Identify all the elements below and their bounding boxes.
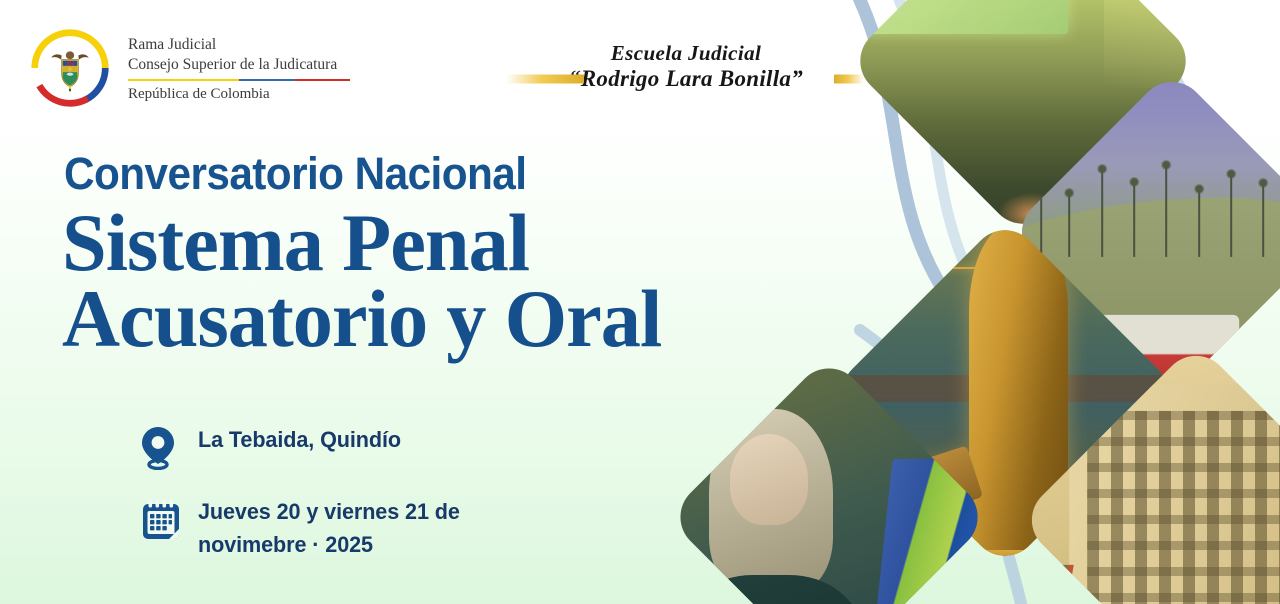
tricolor-divider [128,79,350,82]
detail-location: La Tebaida, Quindío [140,424,471,470]
detail-date: Jueves 20 y viernes 21 de novimebre · 20… [140,496,471,561]
location-text: La Tebaida, Quindío [198,424,401,457]
location-pin-icon [140,424,198,470]
gold-bar-left [506,75,584,84]
presentation-screen [861,0,1068,34]
title-line-1: Sistema Penal [62,205,661,281]
building-windows [1087,411,1280,604]
rama-judicial-logo: Rama Judicial Consejo Superior de la Jud… [28,26,350,110]
page-title: Sistema Penal Acusatorio y Oral [62,205,674,358]
date-line-2: novimebre · 2025 [198,532,373,557]
title-line-2: Acusatorio y Oral [62,281,661,357]
light-beam [1104,0,1200,88]
judge-robe [680,575,862,604]
building-flags [1018,565,1074,604]
logo-line-consejo-superior: Consejo Superior de la Judicatura [128,55,350,75]
escuela-line-1: Escuela Judicial [496,40,876,66]
date-line-1: Jueves 20 y viernes 21 de [198,499,460,524]
calendar-icon [140,496,198,542]
logo-line-republica: República de Colombia [128,86,350,103]
logo-line-rama-judicial: Rama Judicial [128,35,350,55]
gold-bar-right [834,75,864,84]
judge-head [730,434,809,525]
photo-collage [820,0,1280,604]
escuela-line-2: “Rodrigo Lara Bonilla” [569,66,803,92]
event-details: La Tebaida, Quindío [140,424,471,587]
event-kicker: Conversatorio Nacional [64,148,526,200]
date-text: Jueves 20 y viernes 21 de novimebre · 20… [198,496,460,561]
escuela-judicial-wordmark: Escuela Judicial “Rodrigo Lara Bonilla” [496,40,876,92]
colombia-coat-of-arms-emblem [28,26,112,110]
event-poster: Rama Judicial Consejo Superior de la Jud… [0,0,1280,604]
